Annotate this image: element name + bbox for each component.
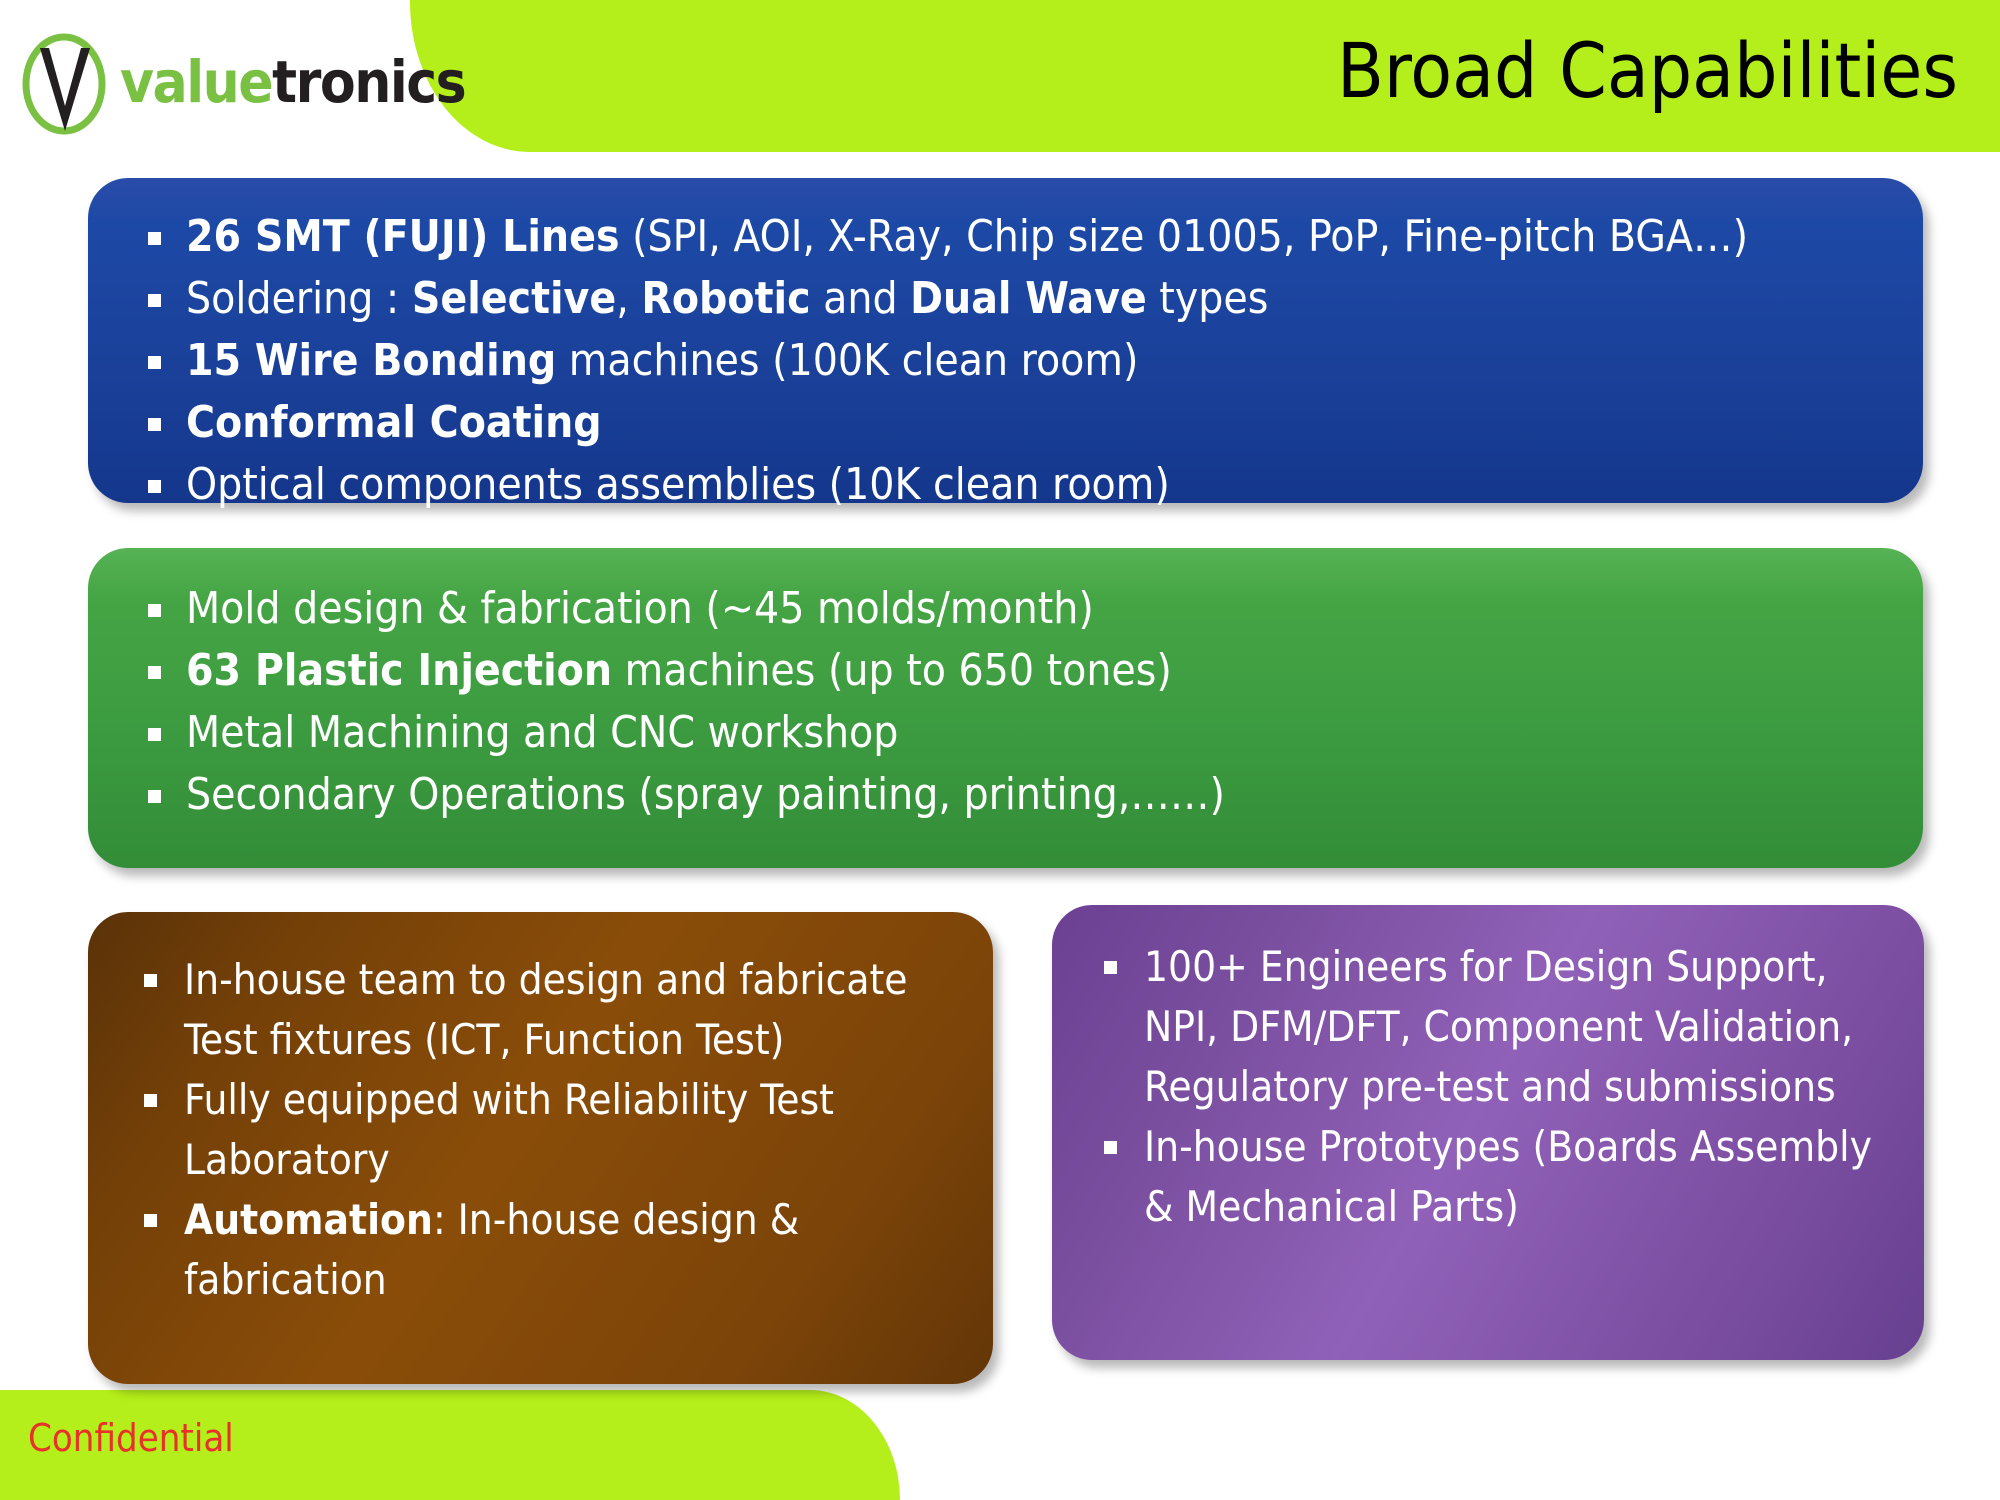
engineering-bullet-list: 100+ Engineers for Design Support, NPI, … [1082,937,1894,1237]
test-bullet-list: In-house team to design and fabricate Te… [122,950,959,1310]
capability-box-engineering-support: 100+ Engineers for Design Support, NPI, … [1052,905,1924,1360]
smt-b2-mid2: and [811,273,911,324]
plastics-b1-text: Mold design & fabrication (~45 molds/mon… [186,583,1094,634]
list-item: Metal Machining and CNC workshop [128,702,1883,764]
smt-b2-bold3: Dual Wave [910,273,1147,324]
plastics-bullet-list: Mold design & fabrication (~45 molds/mon… [128,578,1883,826]
smt-b3-rest: machines (100K clean room) [556,335,1138,386]
engineering-b1-text: 100+ Engineers for Design Support, NPI, … [1144,942,1853,1111]
confidential-label: Confidential [28,1416,234,1460]
smt-b2-bold1: Selective [412,273,616,324]
company-logo: valuetronics [10,22,400,142]
capability-box-plastics-tooling: Mold design & fabrication (~45 molds/mon… [88,548,1923,868]
smt-b4-bold: Conformal Coating [186,397,602,448]
list-item: In-house Prototypes (Boards Assembly & M… [1082,1117,1894,1237]
smt-b2-rest: types [1147,273,1269,324]
list-item: Fully equipped with Reliability Test Lab… [122,1070,959,1190]
smt-b5-text: Optical components assemblies (10K clean… [186,459,1170,510]
list-item: 100+ Engineers for Design Support, NPI, … [1082,937,1894,1117]
capability-box-smt-assembly: 26 SMT (FUJI) Lines (SPI, AOI, X-Ray, Ch… [88,178,1923,503]
list-item: 63 Plastic Injection machines (up to 650… [128,640,1883,702]
test-b3-bold: Automation [184,1195,433,1244]
logo-wordmark: valuetronics [120,48,465,116]
smt-bullet-list: 26 SMT (FUJI) Lines (SPI, AOI, X-Ray, Ch… [128,206,1883,516]
list-item: Mold design & fabrication (~45 molds/mon… [128,578,1883,640]
capability-box-test-automation: In-house team to design and fabricate Te… [88,912,993,1384]
list-item: Conformal Coating [128,392,1883,454]
list-item: Automation: In-house design & fabricatio… [122,1190,959,1310]
logo-word-value: value [120,48,272,116]
plastics-b2-bold: 63 Plastic Injection [186,645,612,696]
smt-b2-mid1: , [616,273,641,324]
test-b1-text: In-house team to design and fabricate Te… [184,955,908,1064]
list-item: Secondary Operations (spray painting, pr… [128,764,1883,826]
test-b2-text: Fully equipped with Reliability Test Lab… [184,1075,834,1184]
list-item: Optical components assemblies (10K clean… [128,454,1883,516]
smt-b3-bold: 15 Wire Bonding [186,335,556,386]
smt-b1-rest: (SPI, AOI, X-Ray, Chip size 01005, PoP, … [620,211,1749,262]
page-title: Broad Capabilities [1337,26,1958,115]
plastics-b2-rest: machines (up to 650 tones) [612,645,1172,696]
smt-b2-pre: Soldering : [186,273,412,324]
list-item: Soldering : Selective, Robotic and Dual … [128,268,1883,330]
plastics-b3-text: Metal Machining and CNC workshop [186,707,898,758]
v-check-oval-icon [18,26,114,138]
smt-b1-bold: 26 SMT (FUJI) Lines [186,211,620,262]
logo-word-tronics: tronics [272,48,465,116]
engineering-b2-text: In-house Prototypes (Boards Assembly & M… [1144,1122,1872,1231]
list-item: In-house team to design and fabricate Te… [122,950,959,1070]
plastics-b4-text: Secondary Operations (spray painting, pr… [186,769,1225,820]
list-item: 26 SMT (FUJI) Lines (SPI, AOI, X-Ray, Ch… [128,206,1883,268]
smt-b2-bold2: Robotic [641,273,810,324]
list-item: 15 Wire Bonding machines (100K clean roo… [128,330,1883,392]
